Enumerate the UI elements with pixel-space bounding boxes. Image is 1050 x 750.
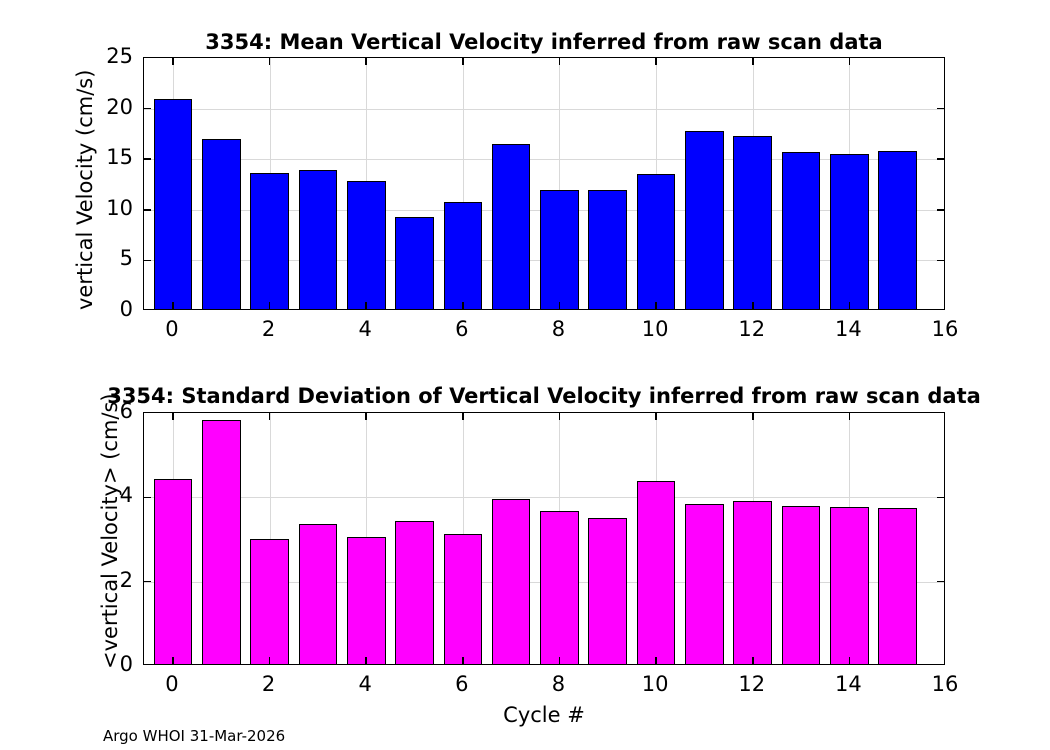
chart-title-top: 3354: Mean Vertical Velocity inferred fr… [143,30,945,54]
x-tick-mark [559,58,561,65]
gridline-horizontal [144,109,944,110]
x-tick-label: 12 [722,319,782,340]
x-tick-mark [559,302,561,309]
x-tick-mark [752,413,754,420]
bar [878,151,917,309]
y-tick-label: 4 [75,485,133,506]
bar [154,479,193,664]
y-tick-label: 2 [75,570,133,591]
bar [444,534,483,664]
x-tick-mark [172,302,174,309]
bar [733,501,772,664]
figure-canvas: 3354: Mean Vertical Velocity inferred fr… [0,0,1050,750]
y-axis-label-bottom: <vertical Velocity> (cm/s) [100,393,121,669]
plot-area-bottom [143,412,945,665]
x-axis-label-bottom: Cycle # [143,705,945,726]
x-tick-mark [269,58,271,65]
x-tick-mark [172,58,174,65]
x-tick-mark [462,413,464,420]
x-tick-label: 16 [915,674,975,695]
x-tick-mark [172,657,174,664]
bar [588,190,627,309]
plot-inner-bottom [144,413,944,664]
x-tick-label: 12 [722,674,782,695]
gridline-horizontal [144,497,944,498]
x-tick-mark [655,657,657,664]
x-tick-label: 6 [432,674,492,695]
x-tick-label: 0 [142,674,202,695]
x-tick-mark [462,302,464,309]
x-tick-mark [849,657,851,664]
bar [782,152,821,309]
y-tick-mark [937,581,944,583]
x-tick-label: 4 [335,674,395,695]
bar [588,518,627,664]
x-tick-mark [365,657,367,664]
bar [492,144,531,309]
y-tick-mark [144,581,151,583]
bar [202,139,241,309]
x-tick-label: 16 [915,319,975,340]
y-tick-label: 20 [75,97,133,118]
bar [395,217,434,309]
bar [540,511,579,664]
x-tick-label: 10 [625,674,685,695]
x-tick-label: 8 [528,319,588,340]
x-tick-label: 2 [239,674,299,695]
bar [395,521,434,664]
y-tick-label: 5 [75,248,133,269]
bar [637,481,676,664]
x-tick-label: 14 [818,674,878,695]
x-tick-label: 4 [335,319,395,340]
bar [637,174,676,309]
x-tick-mark [655,302,657,309]
bar [492,499,531,664]
x-tick-mark [849,302,851,309]
y-tick-mark [937,497,944,499]
bar [347,537,386,664]
chart-title-bottom: 3354: Standard Deviation of Vertical Vel… [60,384,1028,408]
bar [540,190,579,309]
bar [685,504,724,664]
x-tick-mark [655,58,657,65]
bar [685,131,724,309]
y-tick-label: 10 [75,198,133,219]
bar [733,136,772,309]
bar [299,524,338,664]
y-tick-label: 0 [75,654,133,675]
y-tick-label: 15 [75,147,133,168]
x-tick-mark [752,657,754,664]
bar [299,170,338,309]
x-tick-mark [462,58,464,65]
bar [444,202,483,309]
x-tick-mark [849,413,851,420]
x-tick-mark [269,302,271,309]
y-tick-mark [937,260,944,262]
x-tick-mark [269,413,271,420]
x-tick-mark [559,657,561,664]
bar [830,507,869,664]
y-tick-mark [144,497,151,499]
x-tick-mark [365,302,367,309]
x-tick-label: 6 [432,319,492,340]
bar [830,154,869,309]
x-tick-label: 14 [818,319,878,340]
x-tick-mark [752,302,754,309]
bar [782,506,821,664]
x-tick-label: 8 [528,674,588,695]
y-tick-mark [144,260,151,262]
bar [250,173,289,309]
x-tick-mark [462,657,464,664]
y-tick-mark [144,209,151,211]
x-tick-mark [559,413,561,420]
x-tick-label: 0 [142,319,202,340]
y-tick-label: 6 [75,401,133,422]
footer-credit: Argo WHOI 31-Mar-2026 [103,728,285,744]
y-tick-mark [937,108,944,110]
plot-area-top [143,57,945,310]
bar [202,420,241,664]
x-tick-mark [365,413,367,420]
x-tick-mark [269,657,271,664]
x-tick-mark [172,413,174,420]
y-tick-label: 25 [75,46,133,67]
bar [250,539,289,664]
x-tick-label: 10 [625,319,685,340]
bar [347,181,386,309]
y-tick-label: 0 [75,299,133,320]
y-tick-mark [144,108,151,110]
x-tick-mark [655,413,657,420]
gridline-horizontal [144,159,944,160]
y-tick-mark [937,158,944,160]
y-tick-mark [937,209,944,211]
x-tick-mark [365,58,367,65]
x-tick-mark [849,58,851,65]
plot-inner-top [144,58,944,309]
x-tick-label: 2 [239,319,299,340]
bar [878,508,917,664]
y-tick-mark [144,158,151,160]
x-tick-mark [752,58,754,65]
bar [154,99,193,309]
